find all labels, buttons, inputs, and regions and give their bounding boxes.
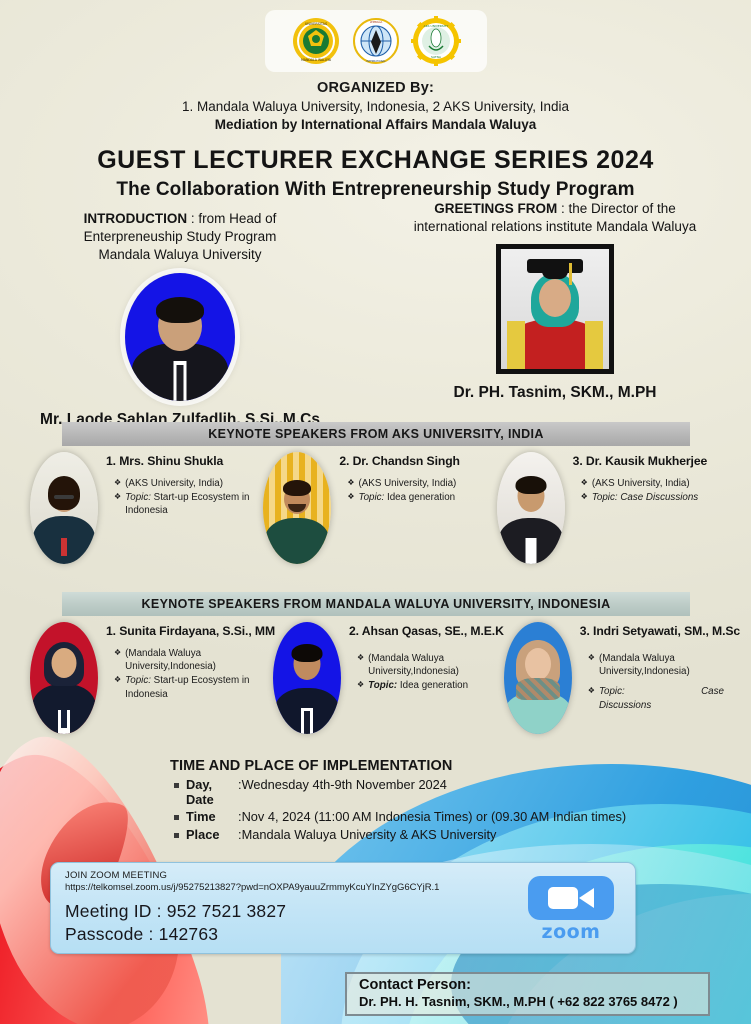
introduction-photo — [125, 273, 235, 401]
svg-text:AKS UNIVERSITY: AKS UNIVERSITY — [424, 24, 449, 28]
svg-text:UNIVERSITAS: UNIVERSITAS — [305, 22, 327, 26]
speaker-card: 1. Sunita Firdayana, S.Si., MM ❖(Mandala… — [30, 622, 273, 734]
time-place-value: Nov 4, 2024 (11:00 AM Indonesia Times) o… — [242, 809, 627, 824]
speaker-bullets: ❖(AKS University, India) ❖Topic: Case Di… — [573, 477, 730, 504]
speaker-name: 2. Dr. Chandsn Singh — [339, 454, 496, 468]
speaker-topic-label: Topic: — [125, 675, 151, 686]
greetings-person-name: Dr. PH. Tasnim, SKM., M.PH — [380, 384, 730, 402]
aks-university-logo: AKS UNIVERSITY SATNA — [411, 16, 461, 66]
square-bullet-icon — [174, 783, 179, 788]
speaker-affiliation: (Mandala Waluya University,Indonesia) — [125, 647, 275, 673]
diamond-bullet-icon: ❖ — [347, 477, 354, 490]
speaker-photo — [273, 622, 341, 734]
time-place-key: Place — [186, 827, 238, 842]
speaker-name: 1. Mrs. Shinu Shukla — [106, 454, 263, 468]
svg-text:LEMBAGA: LEMBAGA — [370, 20, 383, 24]
square-bullet-icon — [174, 815, 179, 820]
speaker-affiliation: (AKS University, India) — [125, 477, 223, 490]
greetings-line1-rest: : the Director of the — [557, 201, 676, 216]
logo-row: UNIVERSITAS MANDALA WALUYA LEMBAGA INTER… — [265, 10, 487, 72]
time-place-title: TIME AND PLACE OF IMPLEMENTATION — [170, 758, 626, 774]
speaker-topic-label: Topic: — [368, 680, 397, 691]
speaker-affiliation: (Mandala Waluya University,Indonesia) — [368, 652, 504, 678]
greetings-photo — [496, 244, 614, 374]
diamond-bullet-icon: ❖ — [357, 679, 364, 692]
poster-canvas: UNIVERSITAS MANDALA WALUYA LEMBAGA INTER… — [0, 0, 751, 1024]
speaker-topic-value: Case — [701, 685, 724, 698]
diamond-bullet-icon: ❖ — [114, 477, 121, 490]
speaker-topic-label: Topic: — [359, 492, 385, 503]
contact-person-box: Contact Person: Dr. PH. H. Tasnim, SKM.,… — [345, 972, 710, 1016]
speaker-affiliation: (AKS University, India) — [592, 477, 690, 490]
speaker-card: 1. Mrs. Shinu Shukla ❖(AKS University, I… — [30, 452, 263, 564]
speaker-topic-label: Topic: — [125, 492, 151, 503]
speaker-row-mandala: 1. Sunita Firdayana, S.Si., MM ❖(Mandala… — [30, 622, 730, 734]
diamond-bullet-icon: ❖ — [114, 674, 121, 700]
speaker-card: 3. Indri Setyawati, SM., M.Sc ❖(Mandala … — [504, 622, 740, 734]
organized-by-label: ORGANIZED By: — [0, 80, 751, 96]
greetings-label: GREETINGS FROM — [434, 201, 557, 216]
square-bullet-icon — [174, 833, 179, 838]
universitas-mandala-waluya-logo: UNIVERSITAS MANDALA WALUYA — [291, 16, 341, 66]
greetings-block: GREETINGS FROM : the Director of the int… — [380, 200, 730, 402]
speaker-topic-value: Case Discussions — [618, 492, 699, 503]
svg-text:SATNA: SATNA — [431, 55, 442, 59]
section-bar-aks: KEYNOTE SPEAKERS FROM AKS UNIVERSITY, IN… — [62, 422, 690, 446]
speaker-bullets: ❖(Mandala Waluya University,Indonesia) ❖… — [106, 647, 275, 701]
section-bar-aks-title: KEYNOTE SPEAKERS FROM AKS UNIVERSITY, IN… — [208, 427, 543, 441]
organizers-line: 1. Mandala Waluya University, Indonesia,… — [0, 99, 751, 114]
speaker-bullets: ❖(AKS University, India) ❖Topic: Start-u… — [106, 477, 263, 518]
speaker-affiliation: (AKS University, India) — [359, 477, 457, 490]
diamond-bullet-icon: ❖ — [347, 491, 354, 504]
zoom-passcode: Passcode : 142763 — [65, 924, 218, 945]
page-title: GUEST LECTURER EXCHANGE SERIES 2024 — [0, 146, 751, 175]
time-place-key: Time — [186, 809, 238, 824]
join-zoom-label: JOIN ZOOM MEETING — [65, 870, 167, 881]
speaker-name: 3. Dr. Kausik Mukherjee — [573, 454, 730, 468]
svg-text:INTERNATIONAL: INTERNATIONAL — [366, 60, 386, 63]
speaker-bullets: ❖(AKS University, India) ❖Topic: Idea ge… — [339, 477, 496, 504]
introduction-block: INTRODUCTION : from Head of Enterpreneus… — [30, 210, 330, 429]
speaker-row-aks: 1. Mrs. Shinu Shukla ❖(AKS University, I… — [30, 452, 730, 564]
speaker-topic-value: Idea generation — [384, 492, 455, 503]
svg-text:MANDALA WALUYA: MANDALA WALUYA — [301, 58, 332, 62]
introduction-line1-rest: : from Head of — [187, 211, 276, 226]
zoom-camera-icon — [528, 876, 614, 920]
speaker-name: 2. Ahsan Qasas, SE., M.E.K — [349, 624, 504, 638]
zoom-logo: zoom — [517, 873, 625, 945]
zoom-meeting-id: Meeting ID : 952 7521 3827 — [65, 901, 286, 922]
introduction-line2: Enterpreneuship Study Program — [84, 229, 277, 244]
speaker-topic-value-2: Discussions — [599, 700, 651, 711]
mediation-line: Mediation by International Affairs Manda… — [0, 117, 751, 132]
speaker-topic-value: Idea generation — [397, 680, 468, 691]
greetings-line2: international relations institute Mandal… — [414, 219, 696, 234]
contact-detail: Dr. PH. H. Tasnim, SKM., M.PH ( +62 822 … — [359, 994, 708, 1009]
zoom-wordmark: zoom — [542, 921, 601, 943]
speaker-topic-label: Topic: — [599, 685, 625, 698]
time-place-value: Wednesday 4th-9th November 2024 — [242, 777, 447, 792]
speaker-name: 1. Sunita Firdayana, S.Si., MM — [106, 624, 275, 638]
page-subtitle: The Collaboration With Entrepreneurship … — [0, 179, 751, 201]
speaker-name: 3. Indri Setyawati, SM., M.Sc — [580, 624, 740, 638]
speaker-photo — [30, 452, 98, 564]
time-place-row: Day, Date : Wednesday 4th-9th November 2… — [170, 777, 626, 807]
introduction-label: INTRODUCTION — [84, 211, 188, 226]
speaker-topic-label: Topic: — [592, 492, 618, 503]
contact-title: Contact Person: — [359, 977, 708, 993]
speaker-photo — [30, 622, 98, 734]
time-place-key: Day, Date — [186, 777, 238, 807]
speaker-photo — [504, 622, 572, 734]
speaker-bullets: ❖(Mandala Waluya University,Indonesia) ❖… — [349, 652, 504, 693]
time-and-place-block: TIME AND PLACE OF IMPLEMENTATION Day, Da… — [170, 758, 626, 842]
diamond-bullet-icon: ❖ — [357, 652, 364, 678]
international-affairs-logo: LEMBAGA INTERNATIONAL — [351, 16, 401, 66]
diamond-bullet-icon: ❖ — [114, 647, 121, 673]
zoom-meeting-link[interactable]: https://telkomsel.zoom.us/j/95275213827?… — [65, 882, 439, 893]
time-place-row: Place : Mandala Waluya University & AKS … — [170, 827, 626, 842]
zoom-meeting-panel[interactable]: JOIN ZOOM MEETING https://telkomsel.zoom… — [50, 862, 636, 954]
diamond-bullet-icon: ❖ — [588, 652, 595, 678]
diamond-bullet-icon: ❖ — [581, 477, 588, 490]
diamond-bullet-icon: ❖ — [581, 491, 588, 504]
speaker-card: 2. Dr. Chandsn Singh ❖(AKS University, I… — [263, 452, 496, 564]
section-bar-mandala-title: KEYNOTE SPEAKERS FROM MANDALA WALUYA UNI… — [142, 597, 611, 611]
introduction-line3: Mandala Waluya University — [98, 247, 261, 262]
speaker-affiliation: (Mandala Waluya University,Indonesia) — [599, 652, 740, 678]
speaker-photo — [263, 452, 331, 564]
introduction-header: INTRODUCTION : from Head of Enterpreneus… — [30, 210, 330, 263]
diamond-bullet-icon: ❖ — [114, 491, 121, 517]
section-bar-mandala: KEYNOTE SPEAKERS FROM MANDALA WALUYA UNI… — [62, 592, 690, 616]
speaker-card: 3. Dr. Kausik Mukherjee ❖(AKS University… — [497, 452, 730, 564]
time-place-row: Time : Nov 4, 2024 (11:00 AM Indonesia T… — [170, 809, 626, 824]
speaker-card: 2. Ahsan Qasas, SE., M.E.K ❖(Mandala Wal… — [273, 622, 504, 734]
time-place-value: Mandala Waluya University & AKS Universi… — [242, 827, 497, 842]
speaker-photo — [497, 452, 565, 564]
poster-title-block: GUEST LECTURER EXCHANGE SERIES 2024 The … — [0, 146, 751, 201]
organized-by-block: ORGANIZED By: 1. Mandala Waluya Universi… — [0, 80, 751, 132]
diamond-bullet-icon: ❖ — [588, 685, 595, 711]
greetings-header: GREETINGS FROM : the Director of the int… — [380, 200, 730, 236]
speaker-bullets: ❖(Mandala Waluya University,Indonesia) ❖… — [580, 652, 740, 712]
